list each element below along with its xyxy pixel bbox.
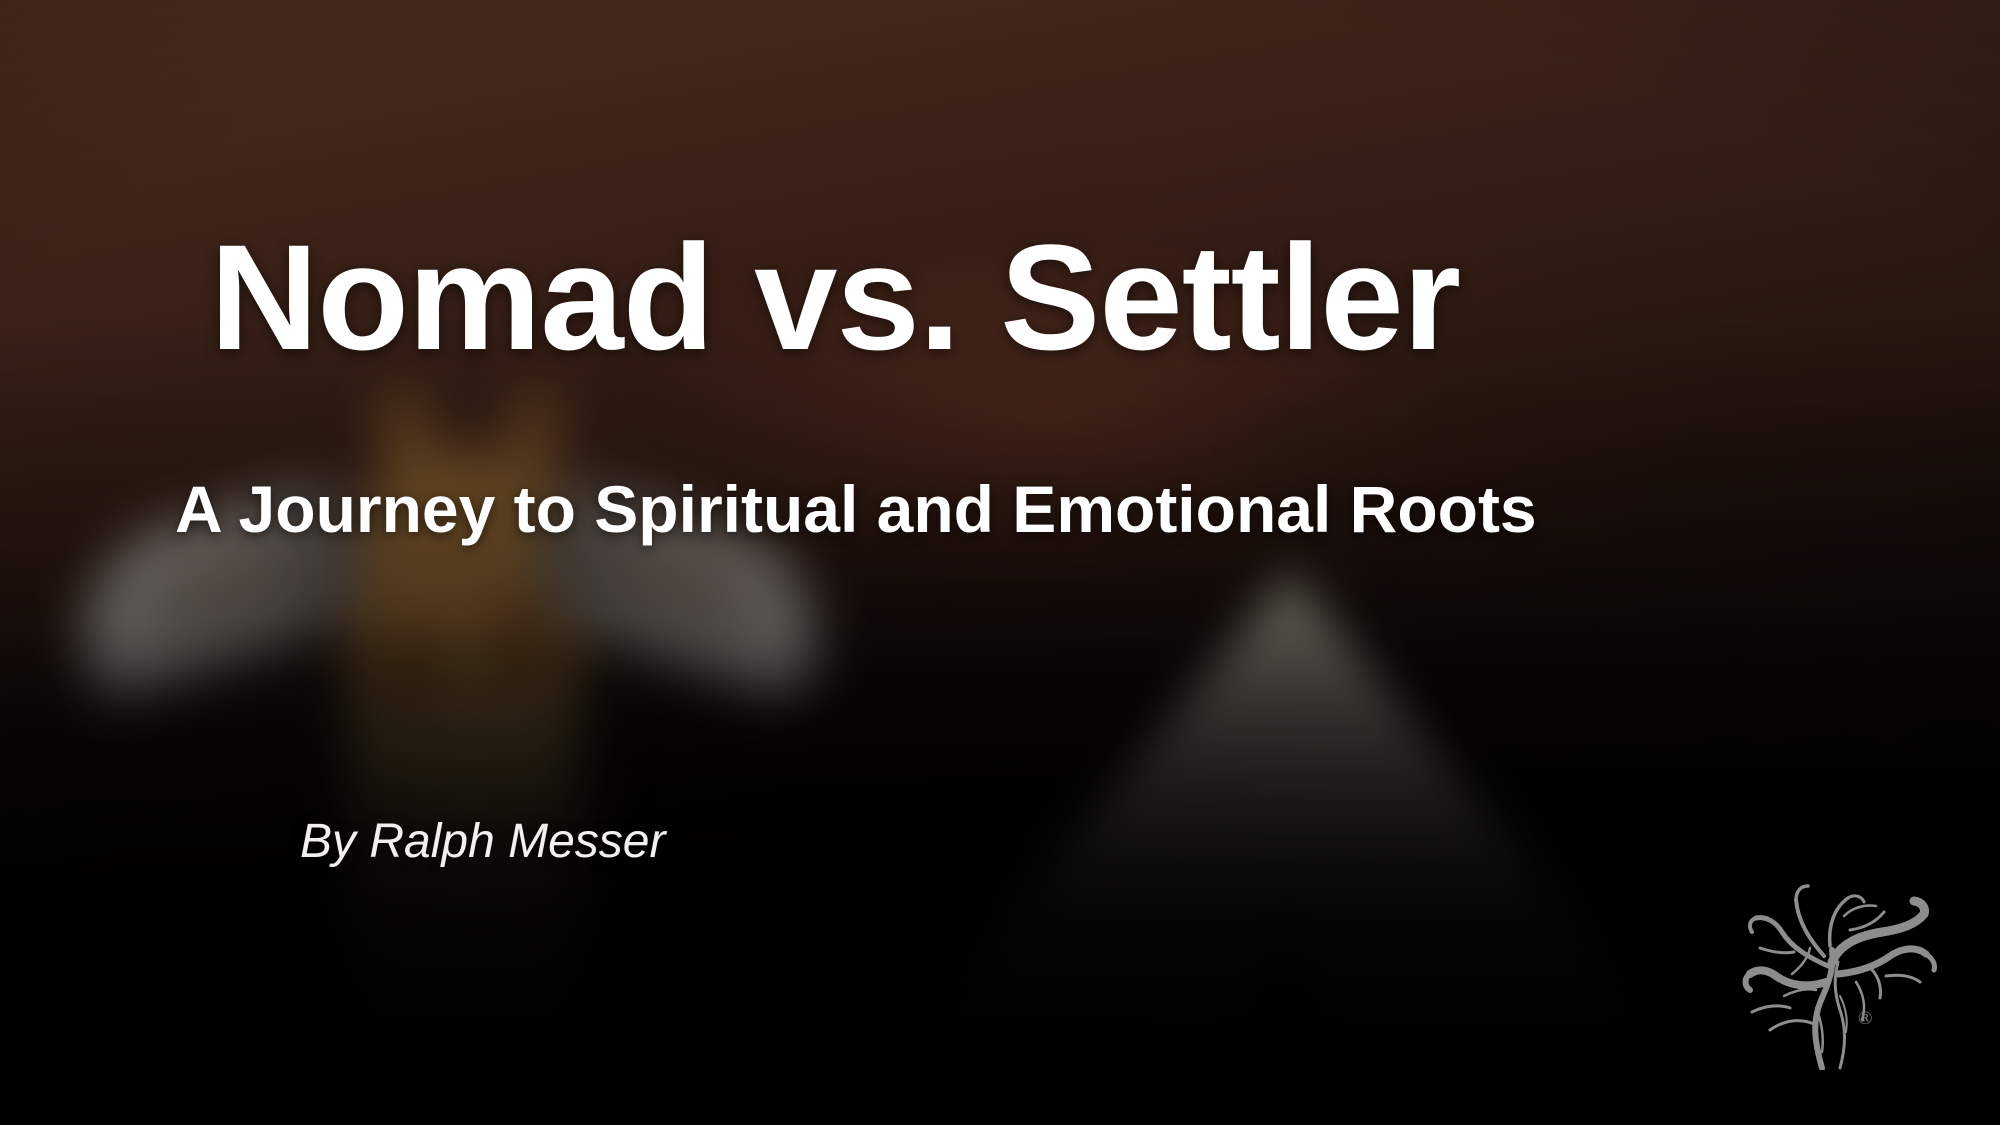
- title-slide: Nomad vs. Settler A Journey to Spiritual…: [0, 0, 2000, 1125]
- registered-trademark-symbol: ®: [1858, 1008, 1872, 1030]
- slide-content: Nomad vs. Settler A Journey to Spiritual…: [0, 0, 2000, 1125]
- slide-title: Nomad vs. Settler: [210, 222, 1460, 372]
- slide-byline: By Ralph Messer: [300, 818, 665, 866]
- slide-subtitle: A Journey to Spiritual and Emotional Roo…: [175, 476, 1537, 542]
- tree-logo-icon: [1730, 870, 1950, 1070]
- tree-logo: ®: [1730, 870, 1950, 1070]
